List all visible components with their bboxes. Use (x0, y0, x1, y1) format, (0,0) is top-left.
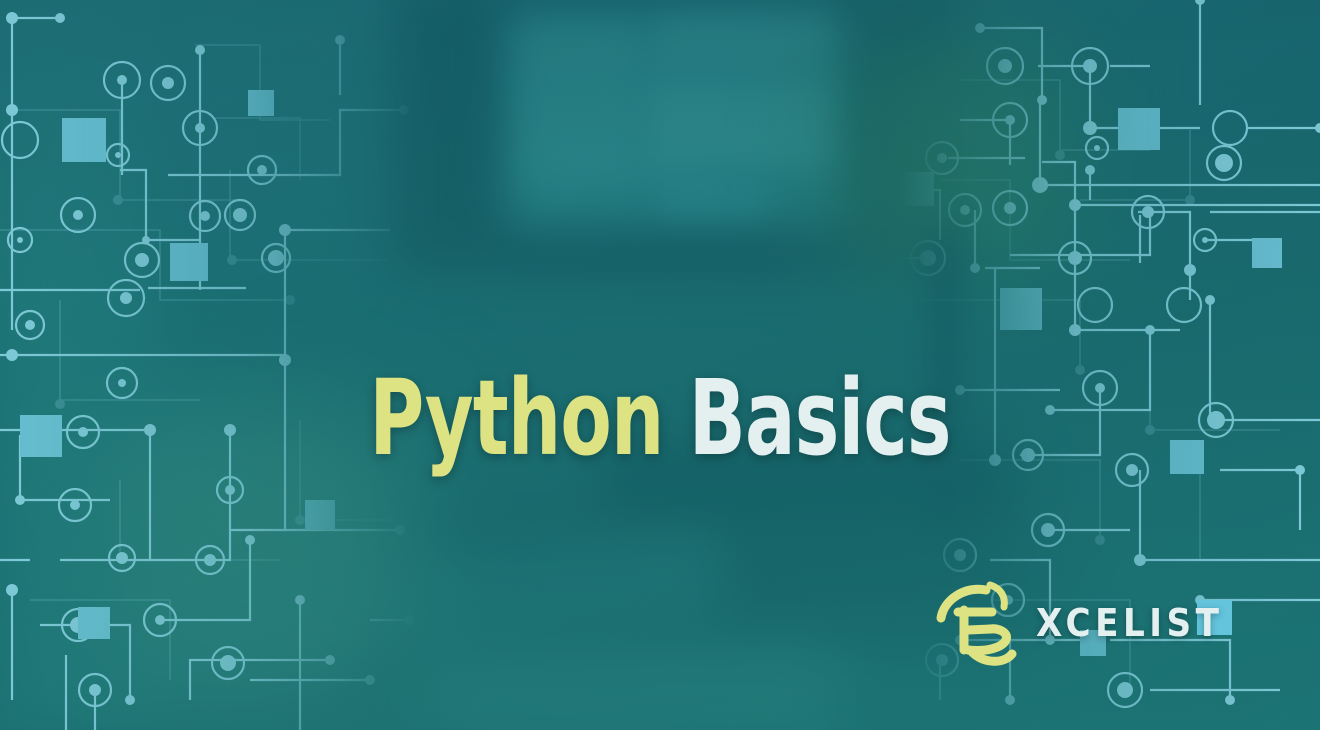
title-word-primary: Python (369, 357, 663, 479)
title-word-secondary: Basics (689, 357, 951, 479)
brand-lockup[interactable]: XCELIST (928, 572, 1228, 676)
title-space (664, 357, 689, 479)
course-banner: Python Basics XCELIST (0, 0, 1320, 730)
xcelist-logo-icon (928, 572, 1032, 676)
page-title: Python Basics (132, 366, 1188, 470)
brand-wordmark: XCELIST (1036, 601, 1223, 645)
